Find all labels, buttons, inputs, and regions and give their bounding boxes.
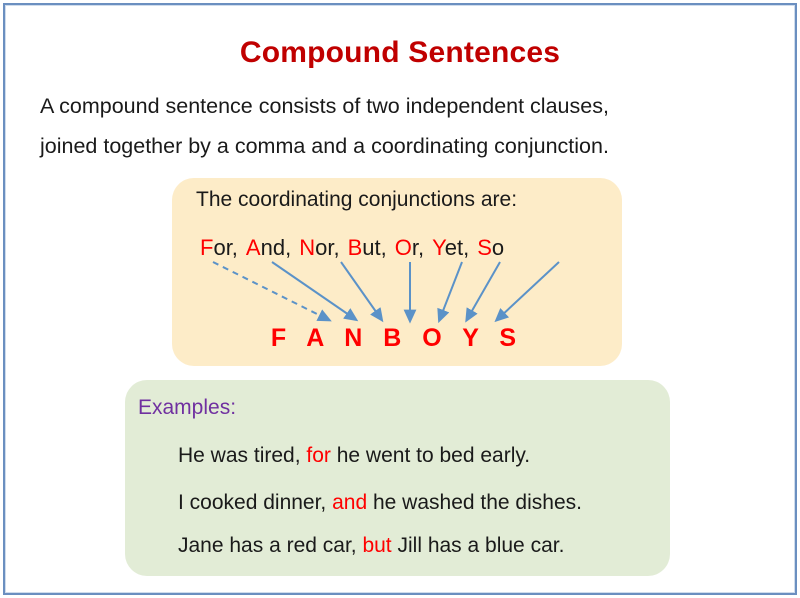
conjunction-item: For, [200, 235, 238, 260]
conjunction-rest: ut, [362, 235, 386, 260]
conjunction-item: Or, [395, 235, 424, 260]
slide-canvas: Compound Sentences A compound sentence c… [0, 0, 800, 598]
example-conjunction: for [306, 444, 331, 467]
intro-text-line-2: joined together by a comma and a coordin… [40, 134, 609, 159]
example-conjunction: and [332, 491, 367, 514]
conjunction-initial: B [348, 235, 363, 260]
conjunction-rest: or, [213, 235, 237, 260]
conjunction-rest: nd, [261, 235, 292, 260]
conjunction-initial: A [246, 235, 261, 260]
intro-text-line-1: A compound sentence consists of two inde… [40, 94, 609, 119]
conjunction-item: So [477, 235, 504, 260]
conjunction-list: For, And, Nor, But, Or, Yet, So [200, 235, 504, 261]
page-title: Compound Sentences [0, 36, 800, 70]
conjunction-rest: o [492, 235, 504, 260]
conjunction-initial: Y [432, 235, 445, 260]
conjunction-separator [340, 235, 348, 261]
conjunction-separator [387, 235, 395, 261]
conjunction-item: And, [246, 235, 291, 260]
example-text-before: I cooked dinner, [178, 491, 332, 514]
conjunction-separator [291, 235, 299, 261]
conjunction-rest: or, [315, 235, 339, 260]
example-conjunction: but [362, 534, 391, 557]
example-sentence: He was tired, for he went to bed early. [178, 444, 530, 468]
conjunction-item: Nor, [299, 235, 339, 260]
conjunction-initial: N [299, 235, 315, 260]
conjunction-rest: r, [412, 235, 424, 260]
fanboys-acronym: F A N B O Y S [172, 324, 622, 353]
conjunction-item: But, [348, 235, 387, 260]
conjunction-item: Yet, [432, 235, 469, 260]
examples-label: Examples: [138, 396, 236, 420]
example-text-after: he went to bed early. [331, 444, 530, 467]
conjunction-separator [469, 235, 477, 261]
example-text-after: he washed the dishes. [367, 491, 582, 514]
conjunction-separator [424, 235, 432, 261]
conjunction-initial: F [200, 235, 213, 260]
example-sentence: Jane has a red car, but Jill has a blue … [178, 534, 564, 558]
example-text-before: Jane has a red car, [178, 534, 362, 557]
fanboys-heading: The coordinating conjunctions are: [196, 188, 517, 212]
conjunction-separator [238, 235, 246, 261]
conjunction-initial: S [477, 235, 492, 260]
example-text-before: He was tired, [178, 444, 306, 467]
conjunction-initial: O [395, 235, 412, 260]
example-sentence: I cooked dinner, and he washed the dishe… [178, 491, 582, 515]
conjunction-rest: et, [445, 235, 469, 260]
example-text-after: Jill has a blue car. [392, 534, 565, 557]
